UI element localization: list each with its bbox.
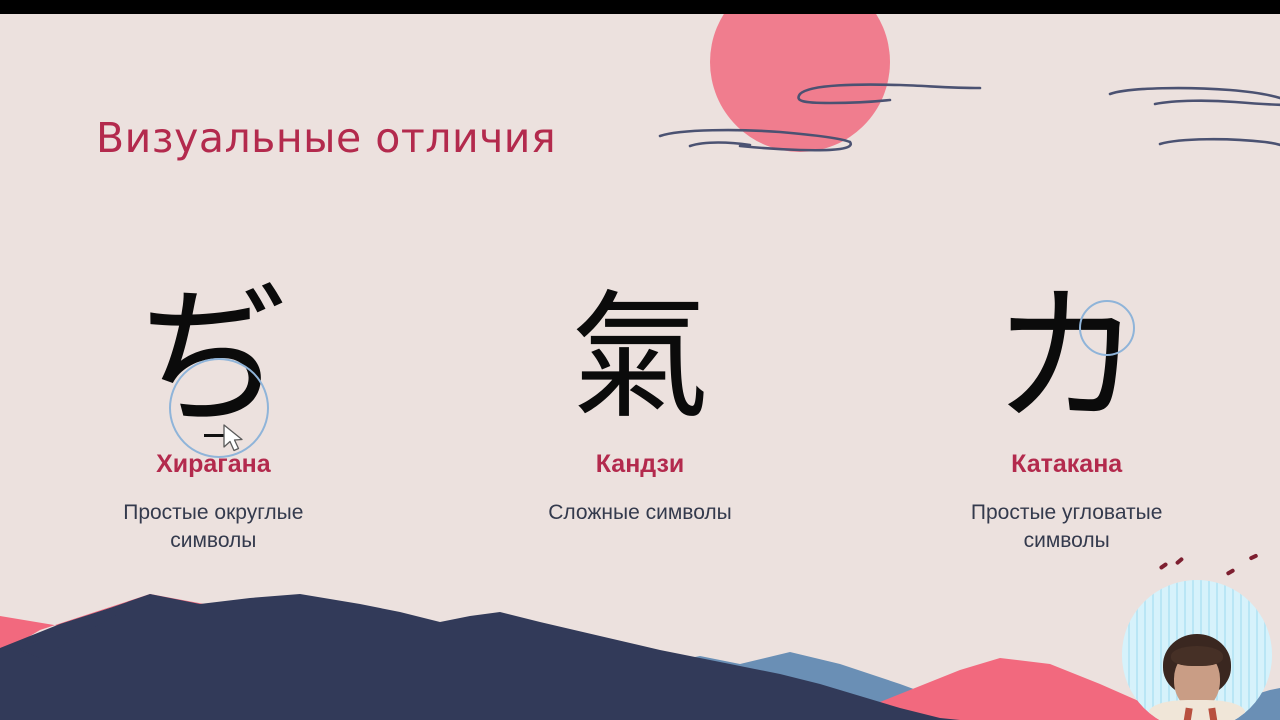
- screen: Визуальные отличия ぢ Хирагана Простые ок…: [0, 0, 1280, 720]
- letterbox-top-bar: [0, 0, 1280, 14]
- glyph-container-katakana: カ: [967, 272, 1167, 444]
- cloud-decoration-center: [650, 72, 990, 106]
- cloud-decoration-left: [650, 122, 950, 156]
- glyph-container-hiragana: ぢ: [113, 272, 313, 444]
- pen-stroke-marker: [204, 434, 224, 437]
- cloud-decoration-right-lower: [1155, 134, 1280, 162]
- katakana-character: カ: [992, 283, 1142, 433]
- term-label-kanji: Кандзи: [596, 450, 685, 479]
- avatar-fringe: [1171, 646, 1223, 666]
- description-hiragana: Простые округлые символы: [88, 499, 338, 556]
- page-title: Визуальные отличия: [96, 114, 556, 162]
- term-label-hiragana: Хирагана: [156, 450, 271, 479]
- glyph-container-kanji: 氣: [540, 272, 740, 444]
- hiragana-character: ぢ: [138, 283, 288, 433]
- avatar-body: [1149, 700, 1245, 720]
- term-label-katakana: Катакана: [1011, 450, 1122, 479]
- cloud-decoration-right-upper: [1100, 82, 1280, 116]
- column-hiragana: ぢ Хирагана Простые округлые символы: [0, 272, 427, 556]
- kanji-character: 氣: [571, 289, 709, 427]
- comparison-columns: ぢ Хирагана Простые округлые символы 氣 Ка…: [0, 272, 1280, 556]
- description-kanji: Сложные символы: [548, 499, 732, 527]
- mountain-landscape-decoration: [0, 560, 1280, 720]
- column-kanji: 氣 Кандзи Сложные символы: [427, 272, 854, 556]
- column-katakana: カ Катакана Простые угловатые символы: [853, 272, 1280, 556]
- presentation-slide: Визуальные отличия ぢ Хирагана Простые ок…: [0, 14, 1280, 720]
- description-katakana: Простые угловатые символы: [942, 499, 1192, 556]
- presenter-webcam[interactable]: [1122, 580, 1272, 720]
